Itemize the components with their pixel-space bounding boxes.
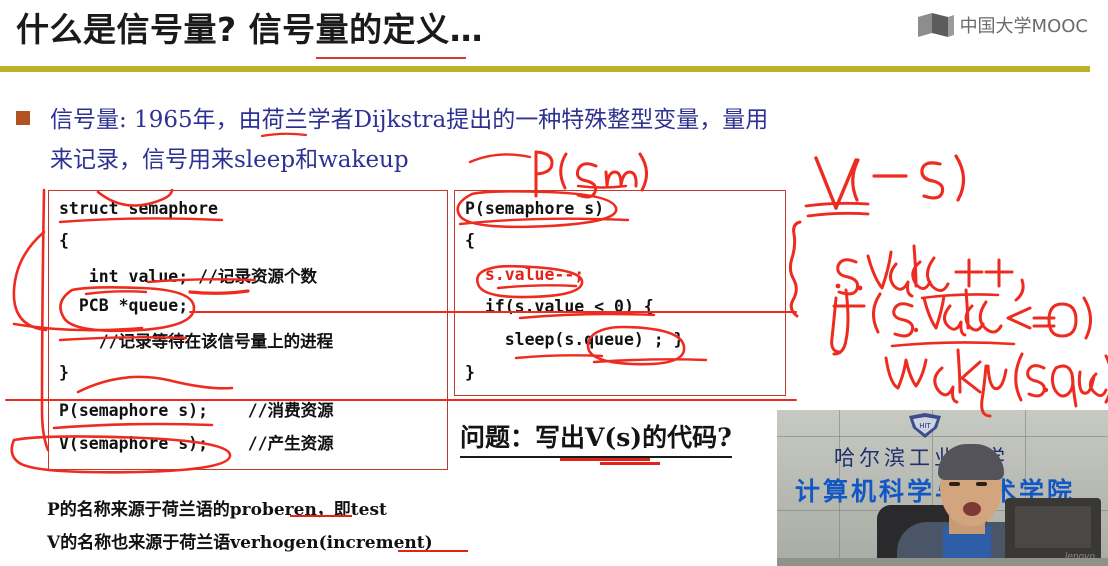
footnote-line-2: V的名称也来源于荷兰语verhogen(increment) (47, 528, 433, 553)
page-title: 什么是信号量? 信号量的定义… (16, 6, 483, 54)
lecturer-eye-right (976, 482, 987, 486)
struct-semaphore-code-box: struct semaphore { int value; //记录资源个数 P… (48, 190, 448, 470)
code-line: PCB *queue; (59, 296, 188, 315)
code-line: P(semaphore s); //消费资源 (59, 397, 334, 421)
mooc-logo: 中国大学MOOC (918, 10, 1088, 40)
code-line: { (59, 231, 69, 250)
header-divider-rule (0, 66, 1090, 72)
code-line: int value; //记录资源个数 (59, 263, 317, 287)
lecturer-eye-left (949, 482, 960, 486)
desk-edge (777, 558, 1108, 566)
code-line-highlighted: s.value--; (465, 265, 584, 284)
question-line: 问题：写出V(s)的代码? (460, 418, 732, 458)
footnote-red-underline-1 (290, 515, 352, 517)
mooc-book-logo-icon (918, 13, 954, 37)
footnote-red-underline-2 (398, 550, 468, 552)
slide-canvas: 什么是信号量? 信号量的定义… 中国大学MOOC 信号量: 1965年，由荷兰学… (0, 0, 1108, 566)
code-line: } (59, 363, 69, 382)
hit-crest-emblem-icon: HIT (905, 412, 945, 442)
question-red-underline-2 (600, 462, 660, 465)
mooc-logo-text: 中国大学MOOC (960, 12, 1088, 38)
square-bullet-icon (16, 111, 30, 125)
lecturer-mouth (963, 502, 981, 516)
code-line: } (465, 363, 475, 382)
p-function-code-box: P(semaphore s) { s.value--; if(s.value <… (454, 190, 786, 396)
code-line: { (465, 231, 475, 250)
title-underline (316, 57, 466, 59)
bullet-line-2: 来记录，信号用来sleep和wakeup (50, 140, 754, 180)
svg-text:HIT: HIT (919, 422, 931, 430)
bullet-line-1: 信号量: 1965年，由荷兰学者Dijkstra提出的一种特殊整型变量，量用 (50, 100, 754, 140)
question-red-underline-1 (560, 458, 650, 461)
code-line: struct semaphore (59, 199, 218, 218)
code-line: //记录等待在该信号量上的进程 (59, 328, 333, 352)
monitor: lenovo (1005, 498, 1101, 566)
code-line: V(semaphore s); //产生资源 (59, 430, 334, 454)
code-line: sleep(s.queue) ; } (465, 330, 684, 349)
bullet-paragraph: 信号量: 1965年，由荷兰学者Dijkstra提出的一种特殊整型变量，量用 来… (14, 100, 754, 180)
code-line: P(semaphore s) (465, 199, 604, 218)
code-line: if(s.value < 0) { (465, 297, 654, 316)
lecturer-video-thumbnail[interactable]: HIT 哈尔滨工业大学 计算机科学与技术学院 lenovo (777, 410, 1108, 566)
